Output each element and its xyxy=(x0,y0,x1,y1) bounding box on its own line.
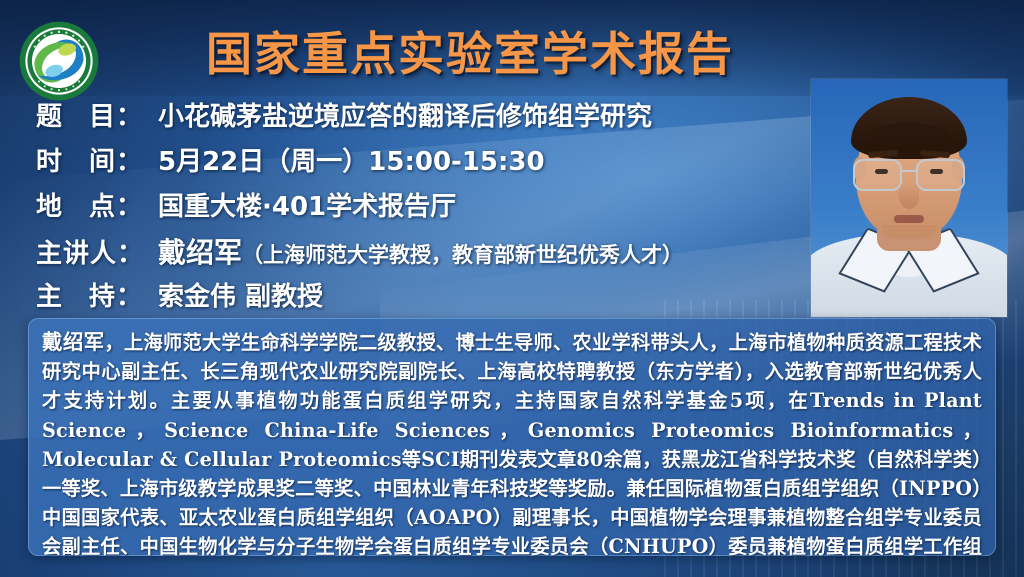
detail-row-host: 主持： 索金伟 副教授 xyxy=(36,276,826,321)
photo-lens-left xyxy=(853,159,902,191)
photo-chin xyxy=(882,225,936,243)
detail-row-time: 时间： 5月22日（周一）15:00-15:30 xyxy=(36,141,826,186)
photo-lens-right xyxy=(916,159,965,191)
bio-speaker-name: 戴绍军 xyxy=(42,330,104,354)
speaker-affiliation: （上海师范大学教授，教育部新世纪优秀人才） xyxy=(242,243,683,267)
page-title: 国家重点实验室学术报告 xyxy=(120,18,820,84)
photo-glasses-bridge xyxy=(901,170,917,172)
photo-mouth xyxy=(894,215,924,223)
seminar-details: 题目： 小花碱茅盐逆境应答的翻译后修饰组学研究 时间： 5月22日（周一）15:… xyxy=(36,96,826,321)
detail-label-topic: 题目： xyxy=(36,96,158,133)
detail-label-speaker: 主讲人： xyxy=(36,233,158,270)
detail-row-topic: 题目： 小花碱茅盐逆境应答的翻译后修饰组学研究 xyxy=(36,96,826,141)
detail-value-host: 索金伟 副教授 xyxy=(158,276,323,313)
speaker-biography-text: 戴绍军，上海师范大学生命科学学院二级教授、博士生导师、农业学科带头人，上海市植物… xyxy=(42,328,982,556)
detail-row-speaker: 主讲人： 戴绍军（上海师范大学教授，教育部新世纪优秀人才） xyxy=(36,231,826,276)
detail-label-location: 地点： xyxy=(36,186,158,223)
detail-label-host: 主持： xyxy=(36,276,158,313)
state-key-laboratory-logo-icon xyxy=(18,20,100,102)
speaker-name: 戴绍军 xyxy=(158,236,242,269)
detail-value-topic: 小花碱茅盐逆境应答的翻译后修饰组学研究 xyxy=(158,96,652,133)
seminar-poster: 国家重点实验室学术报告 题目： 小花碱茅盐逆境应答的翻译后修饰组学研究 时间： … xyxy=(0,0,1024,577)
detail-value-time: 5月22日（周一）15:00-15:30 xyxy=(158,141,545,178)
detail-row-location: 地点： 国重大楼·401学术报告厅 xyxy=(36,186,826,231)
photo-nose xyxy=(899,183,919,209)
speaker-photo xyxy=(811,79,1007,317)
detail-label-time: 时间： xyxy=(36,141,158,178)
speaker-biography-panel: 戴绍军，上海师范大学生命科学学院二级教授、博士生导师、农业学科带头人，上海市植物… xyxy=(28,318,996,556)
detail-value-location: 国重大楼·401学术报告厅 xyxy=(158,186,456,223)
detail-value-speaker: 戴绍军（上海师范大学教授，教育部新世纪优秀人才） xyxy=(158,231,683,271)
